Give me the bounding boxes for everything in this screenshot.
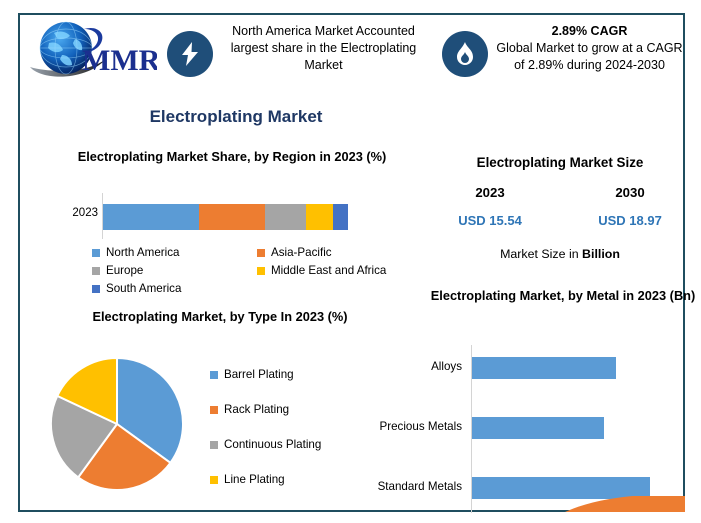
market-size-col-2023: 2023 USD 15.54	[420, 185, 560, 228]
type-legend-label: Continuous Plating	[224, 437, 321, 452]
legend-swatch-icon	[257, 249, 265, 257]
region-segment-south-america	[333, 204, 348, 230]
region-legend-item: North America	[92, 245, 257, 260]
region-chart-legend: North AmericaAsia-PacificEuropeMiddle Ea…	[92, 245, 422, 299]
highlight-1-body: North America Market Accounted largest s…	[231, 24, 417, 72]
legend-swatch-icon	[210, 441, 218, 449]
cagr-headline: 2.89% CAGR	[494, 23, 685, 40]
metal-bar-chart: AlloysPrecious MetalsStandard Metals	[350, 345, 701, 515]
region-legend-label: Middle East and Africa	[271, 263, 386, 278]
region-legend-label: North America	[106, 245, 179, 260]
market-size-col-2030: 2030 USD 18.97	[560, 185, 700, 228]
region-legend-item: South America	[92, 281, 257, 296]
market-size-value-2030: USD 18.97	[560, 213, 700, 228]
region-category-label: 2023	[50, 207, 98, 219]
market-size-values: 2023 USD 15.54 2030 USD 18.97	[420, 185, 700, 228]
infographic-frame: MMR North America Market Accounted large…	[18, 13, 685, 512]
header-highlight-text-2: 2.89% CAGR Global Market to grow at a CA…	[494, 23, 685, 74]
header: MMR North America Market Accounted large…	[20, 15, 683, 107]
region-stacked-bar	[103, 204, 348, 230]
type-legend-label: Line Plating	[224, 472, 285, 487]
type-pie-chart	[48, 355, 186, 493]
legend-swatch-icon	[257, 267, 265, 275]
highlight-2-body: Global Market to grow at a CAGR of 2.89%…	[496, 41, 682, 72]
region-legend-label: Europe	[106, 263, 143, 278]
metal-category-label: Alloys	[350, 360, 462, 373]
legend-swatch-icon	[210, 476, 218, 484]
flame-icon	[442, 31, 488, 77]
metal-bar-precious-metals	[472, 417, 604, 439]
logo-wordmark: MMR	[82, 44, 157, 77]
market-size-year-2023: 2023	[420, 185, 560, 200]
metal-chart-title: Electroplating Market, by Metal in 2023 …	[418, 287, 701, 305]
type-chart-title: Electroplating Market, by Type In 2023 (…	[44, 308, 396, 326]
legend-swatch-icon	[92, 285, 100, 293]
metal-bar-row: Standard Metals	[350, 477, 701, 499]
region-segment-north-america	[103, 204, 199, 230]
lightning-bolt-icon	[167, 31, 213, 77]
region-chart-title: Electroplating Market Share, by Region i…	[56, 148, 408, 166]
market-size-value-2023: USD 15.54	[420, 213, 560, 228]
region-segment-asia-pacific	[199, 204, 265, 230]
header-highlight-text-1: North America Market Accounted largest s…	[219, 23, 428, 74]
metal-bar-row: Precious Metals	[350, 417, 701, 439]
legend-swatch-icon	[210, 371, 218, 379]
mmr-globe-logo: MMR	[22, 15, 157, 87]
type-legend-label: Barrel Plating	[224, 367, 294, 382]
metal-bar-standard-metals	[472, 477, 650, 499]
market-size-note-unit: Billion	[582, 247, 620, 261]
region-legend-item: Asia-Pacific	[257, 245, 422, 260]
region-legend-label: Asia-Pacific	[271, 245, 332, 260]
infographic-root: MMR North America Market Accounted large…	[0, 0, 701, 523]
market-size-title: Electroplating Market Size	[420, 155, 700, 170]
region-segment-middle-east-and-africa	[306, 204, 333, 230]
region-legend-label: South America	[106, 281, 181, 296]
legend-swatch-icon	[210, 406, 218, 414]
type-legend-label: Rack Plating	[224, 402, 289, 417]
metal-bar-alloys	[472, 357, 616, 379]
metal-category-label: Standard Metals	[350, 480, 462, 493]
region-legend-item: Middle East and Africa	[257, 263, 422, 278]
market-size-note: Market Size in Billion	[420, 247, 700, 261]
region-legend-item: Europe	[92, 263, 257, 278]
metal-category-label: Precious Metals	[350, 420, 462, 433]
metal-bar-row: Alloys	[350, 357, 701, 379]
market-size-year-2030: 2030	[560, 185, 700, 200]
page-title: Electroplating Market	[56, 107, 416, 127]
market-size-note-prefix: Market Size in	[500, 247, 582, 261]
legend-swatch-icon	[92, 267, 100, 275]
legend-swatch-icon	[92, 249, 100, 257]
region-segment-europe	[265, 204, 307, 230]
region-share-chart: 2023	[38, 193, 408, 239]
